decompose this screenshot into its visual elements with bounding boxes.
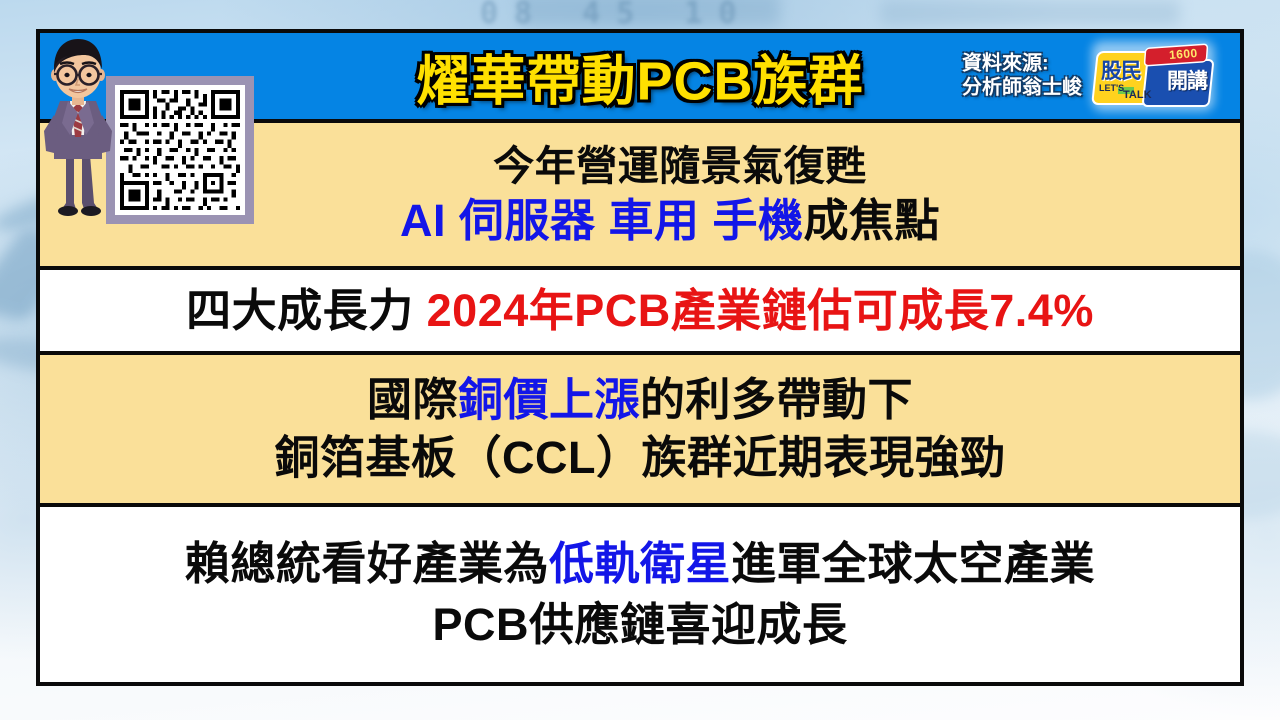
- text-run: 國際: [367, 374, 458, 425]
- row-satellite-line2: PCB供應鏈喜迎成長: [432, 598, 847, 653]
- row-copper-content: 國際銅價上漲的利多帶動下 銅箔基板（CCL）族群近期表現強勁: [40, 355, 1240, 503]
- logo-brand-left: 股民: [1101, 55, 1141, 85]
- row-copper: 國際銅價上漲的利多帶動下 銅箔基板（CCL）族群近期表現強勁: [40, 355, 1240, 507]
- background-ticker-numbers: 08 45 10: [480, 0, 1040, 31]
- row-outlook-line1: 今年營運隨景氣復甦: [413, 142, 867, 190]
- source-analyst: 分析師翁士峻: [962, 76, 1082, 100]
- row-outlook-content: 今年營運隨景氣復甦 AI 伺服器 車用 手機成焦點: [40, 123, 1240, 266]
- text-run-highlight: 2024年PCB產業鏈估可成長7.4%: [427, 285, 1094, 336]
- text-run: 銅箔基板（CCL）族群近期表現強勁: [275, 432, 1006, 483]
- row-copper-line2: 銅箔基板（CCL）族群近期表現強勁: [275, 431, 1006, 485]
- row-growth-line1: 四大成長力 2024年PCB產業鏈估可成長7.4%: [186, 286, 1094, 336]
- card-header: 燿華帶動PCB族群 資料來源: 分析師翁士峻 股民 LET'S TALK 開講 …: [40, 33, 1240, 123]
- text-run: 今年營運隨景氣復甦: [493, 143, 867, 189]
- info-card: 燿華帶動PCB族群 資料來源: 分析師翁士峻 股民 LET'S TALK 開講 …: [36, 29, 1244, 686]
- row-copper-line1: 國際銅價上漲的利多帶動下: [367, 373, 913, 427]
- row-growth-content: 四大成長力 2024年PCB產業鏈估可成長7.4%: [40, 270, 1240, 351]
- text-run-highlight: 低軌衛星: [549, 538, 731, 589]
- text-run: 的利多帶動下: [640, 374, 913, 425]
- row-satellite-content: 賴總統看好產業為低軌衛星進軍全球太空產業 PCB供應鏈喜迎成長: [40, 507, 1240, 682]
- text-run: 進軍全球太空產業: [731, 538, 1095, 589]
- text-run-highlight: 銅價上漲: [458, 374, 640, 425]
- text-run: 賴總統看好產業為: [185, 538, 549, 589]
- row-growth: 四大成長力 2024年PCB產業鏈估可成長7.4%: [40, 270, 1240, 355]
- text-run-highlight: AI 伺服器 車用 手機: [400, 195, 804, 246]
- logo-channel-number: 1600: [1169, 46, 1199, 62]
- row-satellite-line1: 賴總統看好產業為低軌衛星進軍全球太空產業: [185, 537, 1095, 592]
- text-run: 四大成長力: [186, 285, 427, 336]
- source-label: 資料來源:: [962, 52, 1082, 76]
- row-outlook-line2: AI 伺服器 車用 手機成焦點: [340, 194, 940, 247]
- row-outlook: 今年營運隨景氣復甦 AI 伺服器 車用 手機成焦點: [40, 123, 1240, 270]
- row-satellite: 賴總統看好產業為低軌衛星進軍全球太空產業 PCB供應鏈喜迎成長: [40, 507, 1240, 682]
- logo-talk-text: TALK: [1123, 89, 1152, 101]
- logo-lets-text: LET'S: [1099, 83, 1124, 93]
- show-logo: 股民 LET'S TALK 開講 1600: [1096, 45, 1210, 107]
- source-credit: 資料來源: 分析師翁士峻: [962, 52, 1082, 101]
- text-run: PCB供應鏈喜迎成長: [432, 599, 847, 650]
- text-run: 成焦點: [804, 195, 941, 246]
- logo-brand-right: 開講: [1167, 65, 1207, 95]
